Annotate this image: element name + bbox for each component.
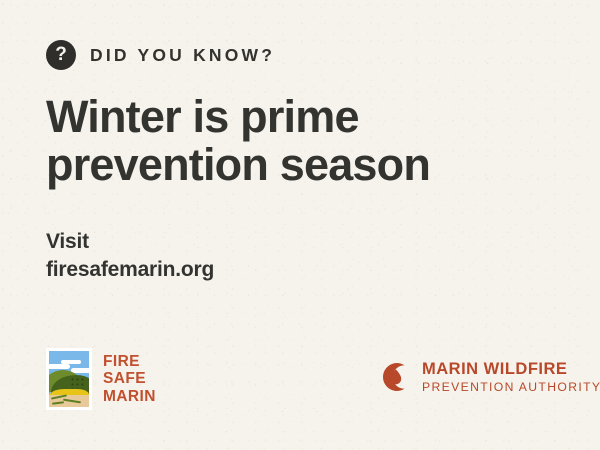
footer-logos: FIRE SAFE MARIN MARIN WILDFIRE PREVENTIO… [0,348,600,414]
headline-line-2: prevention season [46,141,566,189]
mwpa-line-2: PREVENTION AUTHORITY [422,381,600,393]
mwpa-line-1: MARIN WILDFIRE [422,361,600,378]
visit-block: Visit firesafemarin.org [46,228,214,285]
marin-wildfire-prevention-authority-logo[interactable]: MARIN WILDFIRE PREVENTION AUTHORITY [378,360,600,394]
eyebrow-label: DID YOU KNOW? [90,45,275,66]
fsm-line-1: FIRE [103,353,156,370]
visit-label: Visit [46,228,214,256]
fire-safe-marin-wordmark: FIRE SAFE MARIN [103,353,156,405]
eyebrow: ? DID YOU KNOW? [46,40,275,70]
website-url[interactable]: firesafemarin.org [46,256,214,284]
mwpa-wordmark: MARIN WILDFIRE PREVENTION AUTHORITY [422,361,600,393]
poster-canvas: ? DID YOU KNOW? Winter is prime preventi… [0,0,600,450]
flame-in-ring-icon [378,360,412,394]
fsm-line-2: SAFE [103,370,156,387]
headline-line-1: Winter is prime [46,93,566,141]
fire-safe-marin-logo[interactable]: FIRE SAFE MARIN [46,348,156,410]
question-mark-icon: ? [46,40,76,70]
marin-landscape-illustration-icon [46,348,92,410]
fsm-line-3: MARIN [103,388,156,405]
page-title: Winter is prime prevention season [46,93,566,188]
